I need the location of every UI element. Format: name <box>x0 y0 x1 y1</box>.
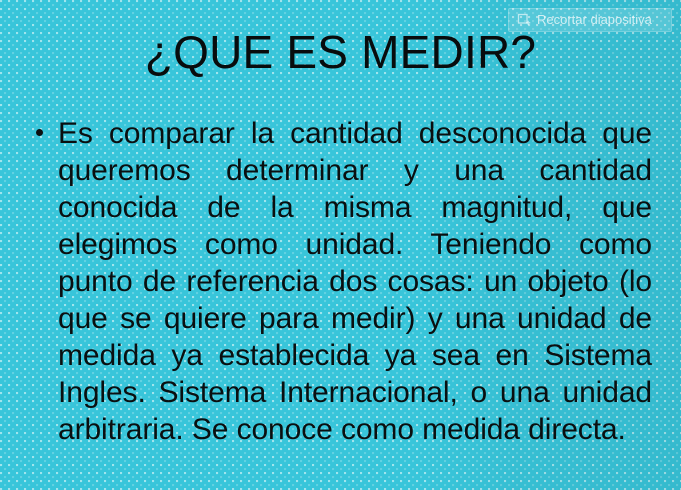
bullet-point-icon <box>36 115 58 136</box>
crop-slide-icon <box>517 13 531 27</box>
slide-body: Es comparar la cantidad desconocida que … <box>36 115 652 448</box>
bullet-list-item: Es comparar la cantidad desconocida que … <box>36 115 652 448</box>
crop-slide-button[interactable]: Recortar diapositiva <box>508 8 672 32</box>
presentation-slide: ¿QUE ES MEDIR? Es comparar la cantidad d… <box>0 0 681 490</box>
bullet-item-text: Es comparar la cantidad desconocida que … <box>58 115 652 448</box>
slide-title: ¿QUE ES MEDIR? <box>0 24 681 80</box>
crop-slide-button-label: Recortar diapositiva <box>537 13 652 27</box>
